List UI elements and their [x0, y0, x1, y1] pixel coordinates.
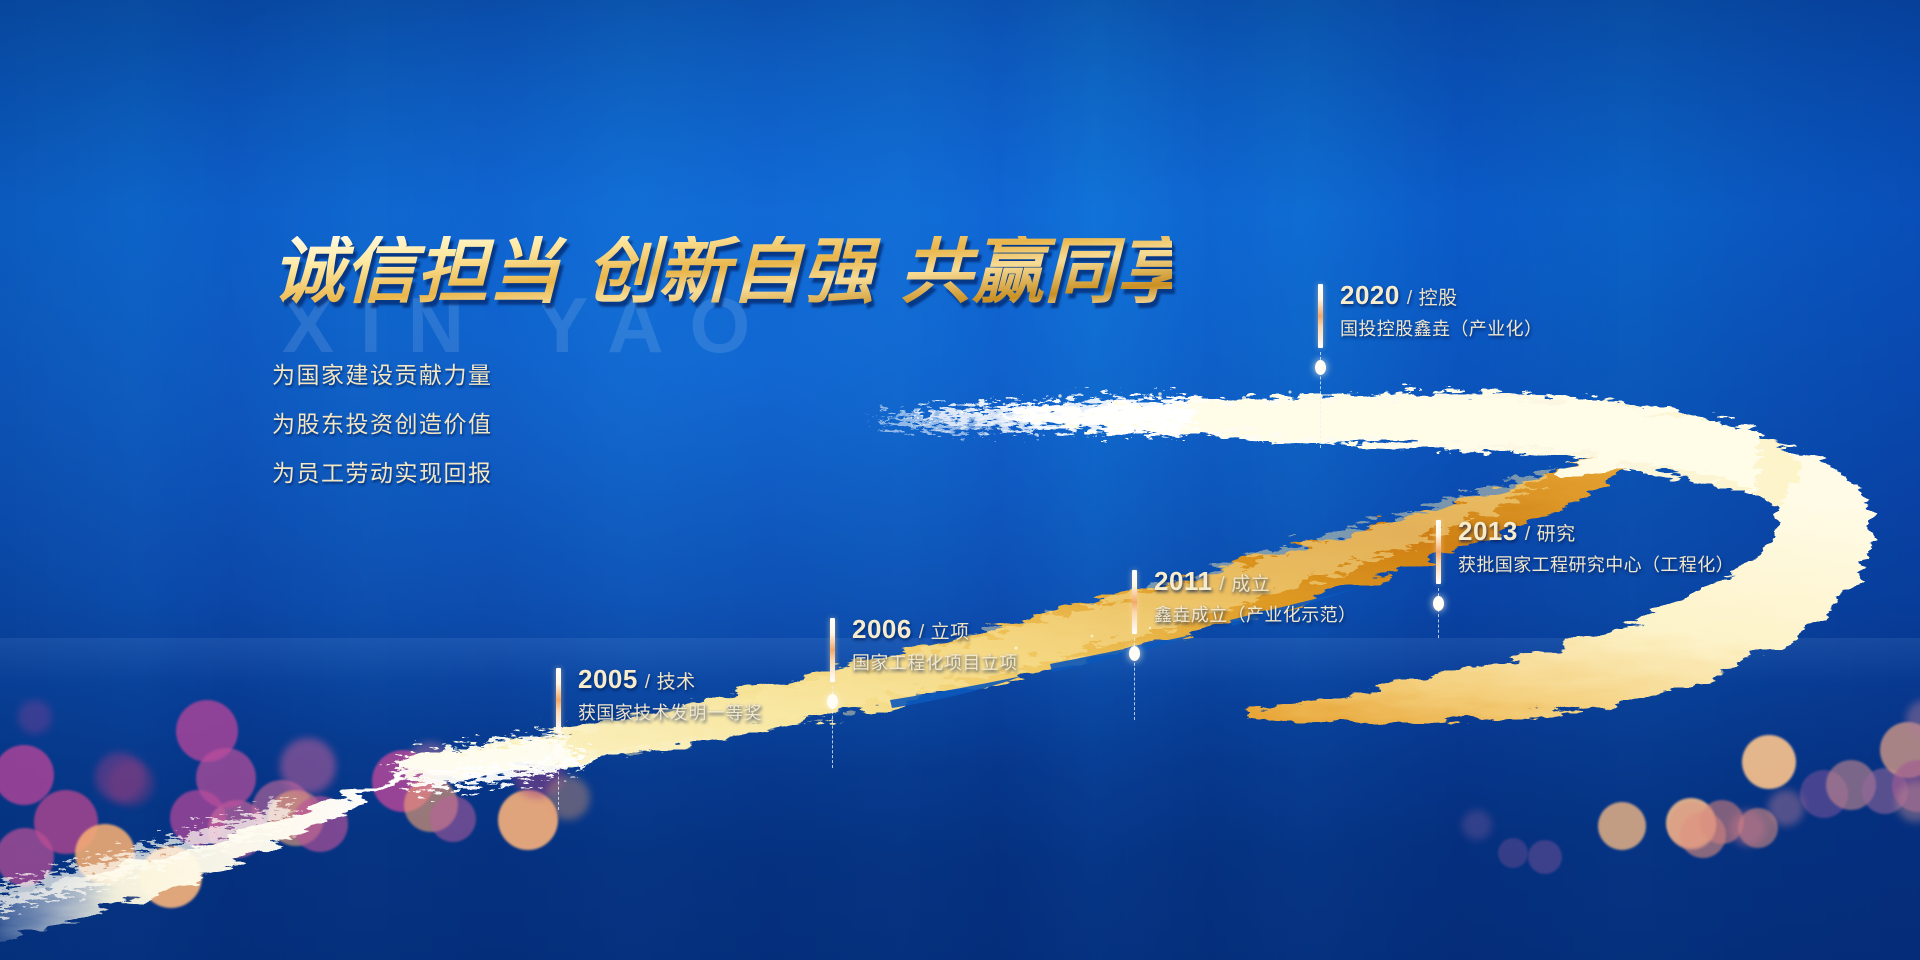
milestone-year: 2020 — [1340, 280, 1400, 310]
milestone-description: 鑫垚成立（产业化示范） — [1154, 606, 1356, 624]
milestone-separator: / — [919, 622, 925, 643]
page-title: 诚信担当创新自强共赢同享 — [272, 236, 1172, 308]
milestone-text: 2013/研究获批国家工程研究中心（工程化） — [1458, 518, 1734, 574]
milestone-separator: / — [645, 672, 651, 693]
milestone-separator: / — [1407, 288, 1413, 309]
milestone-accent-bar — [556, 668, 561, 732]
milestone-accent-bar — [1318, 284, 1323, 348]
milestone-separator: / — [1219, 574, 1225, 595]
milestone-marker-dot[interactable] — [553, 744, 564, 759]
milestone-accent-bar — [1436, 520, 1441, 584]
milestone-year: 2011 — [1154, 566, 1212, 596]
milestone-marker-dot[interactable] — [827, 694, 838, 709]
milestone-kind: 研究 — [1537, 524, 1576, 545]
milestone-description: 获批国家工程研究中心（工程化） — [1458, 556, 1734, 574]
milestone-year: 2005 — [578, 664, 638, 694]
milestone-accent-bar — [1132, 570, 1137, 634]
subline-2: 为股东投资创造价值 — [272, 413, 1172, 436]
headline-part-1: 诚信担当 — [272, 232, 560, 312]
milestone-text: 2005/技术获国家技术发明一等奖 — [578, 666, 762, 722]
milestone-kind: 立项 — [931, 622, 970, 643]
milestone-year-line: 2020/控股 — [1340, 282, 1542, 308]
milestone-text: 2011/成立鑫垚成立（产业化示范） — [1154, 568, 1356, 624]
milestone-marker-dot[interactable] — [1433, 596, 1444, 611]
milestone-text: 2020/控股国投控股鑫垚（产业化） — [1340, 282, 1542, 338]
milestone-marker-dot[interactable] — [1315, 360, 1326, 375]
headline-block: XIN YAO 诚信担当创新自强共赢同享 为国家建设贡献力量 为股东投资创造价值… — [272, 236, 1172, 485]
milestone-year-line: 2006/立项 — [852, 616, 1018, 642]
milestone-accent-bar — [830, 618, 835, 682]
milestone-description: 获国家技术发明一等奖 — [578, 704, 762, 722]
milestone-marker-dot[interactable] — [1129, 646, 1140, 661]
milestone-year: 2013 — [1458, 516, 1518, 546]
milestone-kind: 控股 — [1419, 288, 1458, 309]
headline-part-2: 创新自强 — [586, 232, 874, 312]
milestone-year-line: 2005/技术 — [578, 666, 762, 692]
milestone-description: 国投控股鑫垚（产业化） — [1340, 320, 1542, 338]
milestone-year-line: 2011/成立 — [1154, 568, 1356, 594]
milestone-year: 2006 — [852, 614, 912, 644]
milestone-description: 国家工程化项目立项 — [852, 654, 1018, 672]
milestone-year-line: 2013/研究 — [1458, 518, 1734, 544]
milestone-text: 2006/立项国家工程化项目立项 — [852, 616, 1018, 672]
headline-part-3: 共赢同享 — [900, 232, 1188, 312]
milestone-separator: / — [1525, 524, 1531, 545]
milestone-kind: 成立 — [1231, 574, 1270, 595]
subline-3: 为员工劳动实现回报 — [272, 462, 1172, 485]
banner-stage: XIN YAO 诚信担当创新自强共赢同享 为国家建设贡献力量 为股东投资创造价值… — [0, 0, 1920, 960]
subline-1: 为国家建设贡献力量 — [272, 364, 1172, 387]
milestone-kind: 技术 — [657, 672, 696, 693]
